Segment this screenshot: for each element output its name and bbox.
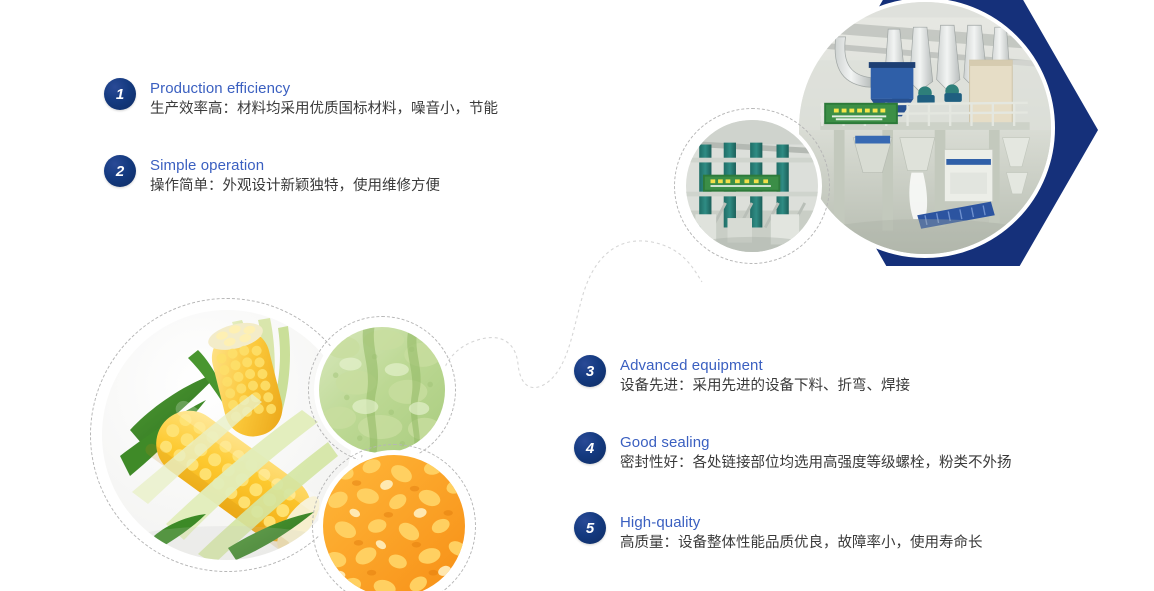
infographic-canvas: 1 Production efficiency 生产效率高：材料均采用优质国标材…	[0, 0, 1154, 591]
feature-text-1: Production efficiency 生产效率高：材料均采用优质国标材料，…	[150, 78, 498, 120]
feature-item-4: 4 Good sealing 密封性好：各处链接部位均选用高强度等级螺栓，粉类不…	[574, 432, 1012, 474]
feature-title-3: Advanced equipment	[620, 356, 910, 375]
feature-title-5: High-quality	[620, 513, 983, 532]
feature-text-2: Simple operation 操作简单：外观设计新颖独特，使用维修方便	[150, 155, 440, 197]
green-milling-line-photo	[682, 116, 822, 256]
green-milling-line-artwork	[686, 120, 818, 252]
orange-corn-grits-artwork	[323, 455, 465, 591]
feature-text-5: High-quality 高质量：设备整体性能品质优良，故障率小，使用寿命长	[620, 512, 983, 554]
orange-corn-grits-photo	[318, 450, 470, 591]
feature-number-badge-2: 2	[104, 155, 136, 187]
feature-item-2: 2 Simple operation 操作简单：外观设计新颖独特，使用维修方便	[104, 155, 440, 197]
flour-mill-plant-artwork	[799, 2, 1051, 254]
feature-title-1: Production efficiency	[150, 79, 498, 98]
feature-item-5: 5 High-quality 高质量：设备整体性能品质优良，故障率小，使用寿命长	[574, 512, 983, 554]
feature-text-3: Advanced equipment 设备先进：采用先进的设备下料、折弯、焊接	[620, 355, 910, 397]
feature-item-1: 1 Production efficiency 生产效率高：材料均采用优质国标材…	[104, 78, 498, 120]
green-corn-paste-artwork	[319, 327, 445, 453]
feature-description-4: 密封性好：各处链接部位均选用高强度等级螺栓，粉类不外扬	[620, 453, 1012, 474]
flour-mill-plant-photo	[795, 0, 1055, 258]
feature-item-3: 3 Advanced equipment 设备先进：采用先进的设备下料、折弯、焊…	[574, 355, 910, 397]
feature-description-2: 操作简单：外观设计新颖独特，使用维修方便	[150, 176, 440, 197]
corn-photo-cluster	[80, 280, 500, 591]
machinery-photo-cluster	[660, 0, 1154, 284]
feature-text-4: Good sealing 密封性好：各处链接部位均选用高强度等级螺栓，粉类不外扬	[620, 432, 1012, 474]
feature-title-4: Good sealing	[620, 433, 1012, 452]
feature-number-badge-3: 3	[574, 355, 606, 387]
feature-number-badge-5: 5	[574, 512, 606, 544]
feature-number-badge-4: 4	[574, 432, 606, 464]
feature-description-1: 生产效率高：材料均采用优质国标材料，噪音小，节能	[150, 99, 498, 120]
feature-description-3: 设备先进：采用先进的设备下料、折弯、焊接	[620, 376, 910, 397]
feature-description-5: 高质量：设备整体性能品质优良，故障率小，使用寿命长	[620, 533, 983, 554]
feature-number-badge-1: 1	[104, 78, 136, 110]
feature-title-2: Simple operation	[150, 156, 440, 175]
green-corn-paste-photo	[314, 322, 450, 458]
